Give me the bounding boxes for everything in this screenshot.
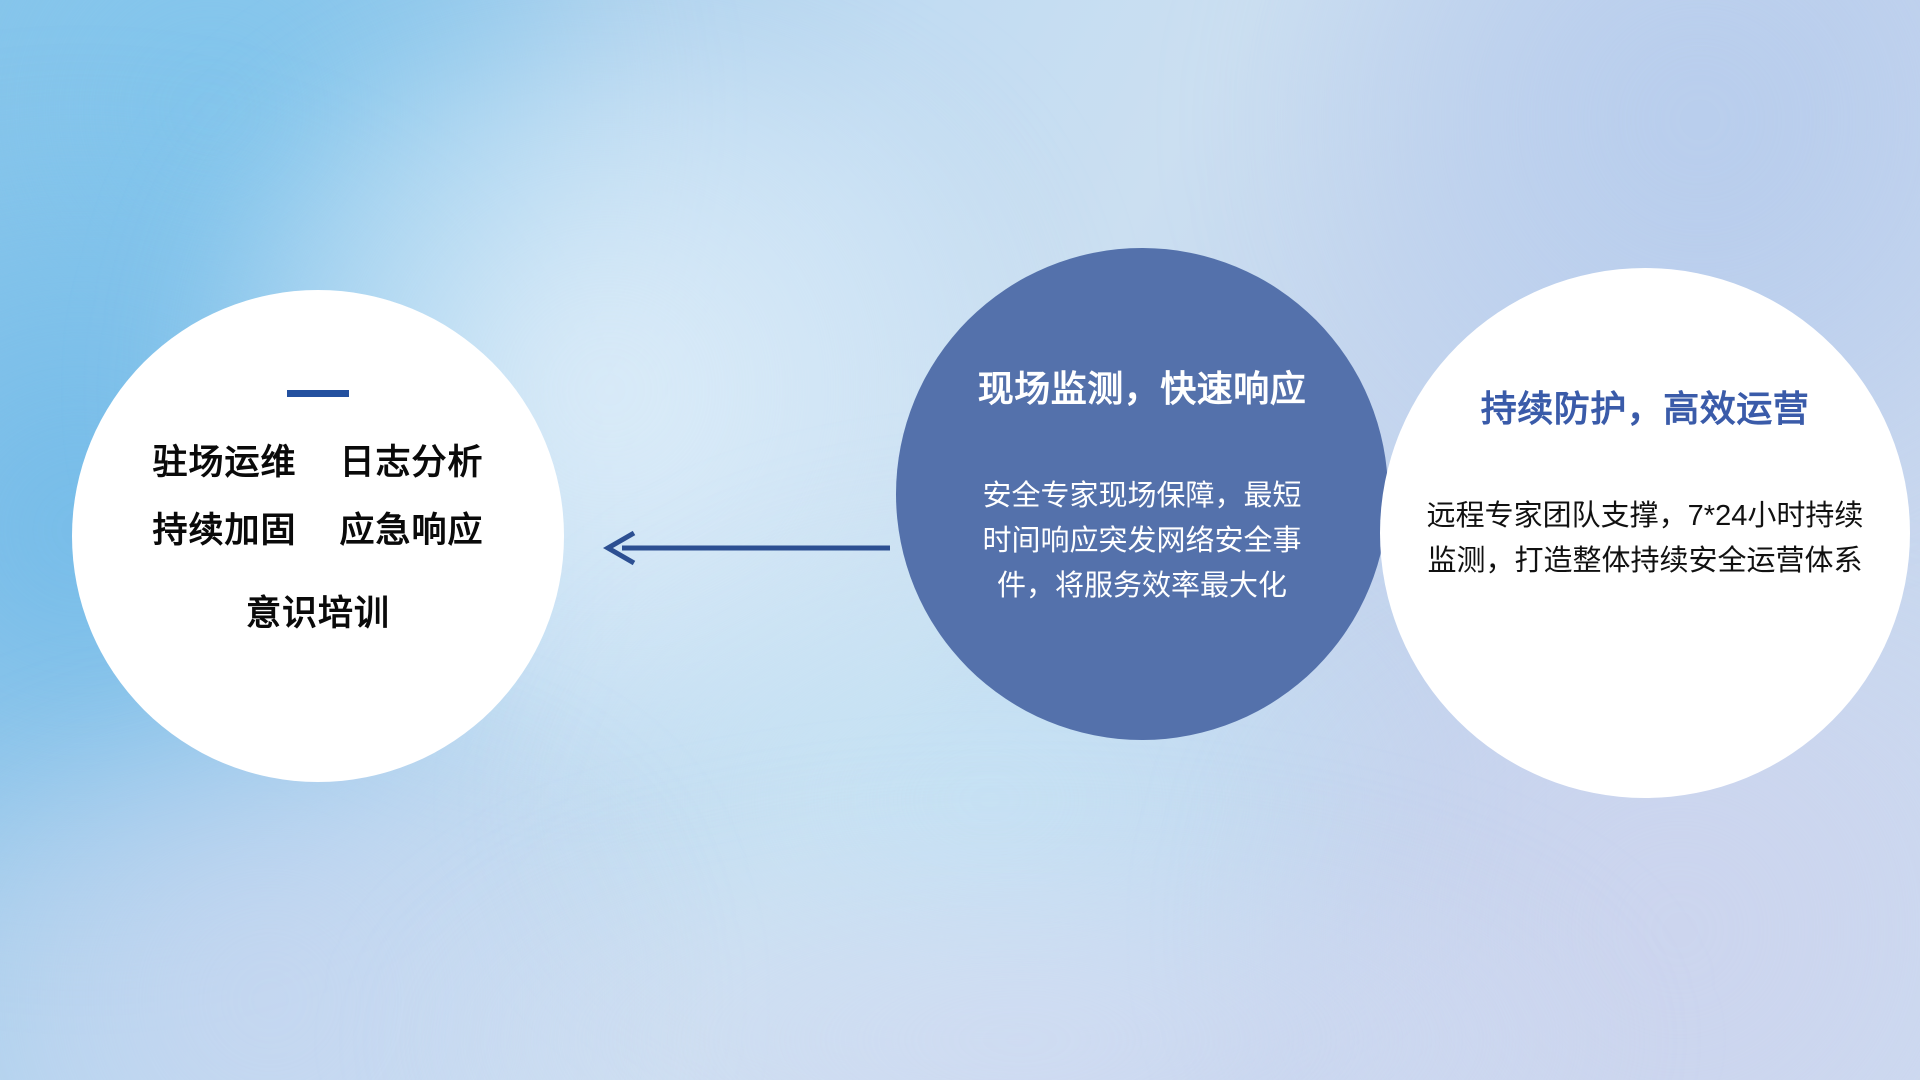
middle-card-title: 现场监测，快速响应 xyxy=(978,360,1307,412)
left-card-line-3: 意识培训 xyxy=(246,594,390,634)
right-card: 持续防护，高效运营 远程专家团队支撑，7*24小时持续监测，打造整体持续安全运营… xyxy=(1380,268,1910,798)
left-card-line-2: 持续加固 应急响应 xyxy=(153,511,484,551)
slide-canvas: 驻场运维 日志分析 持续加固 应急响应 意识培训 现场监测，快速响应 安全专家现… xyxy=(0,0,1920,1080)
right-card-title: 持续防护，高效运营 xyxy=(1481,380,1810,432)
left-card-line-1: 驻场运维 日志分析 xyxy=(153,443,484,483)
middle-card-body: 安全专家现场保障，最短时间响应突发网络安全事件，将服务效率最大化 xyxy=(978,474,1306,609)
arrow-left-icon xyxy=(600,524,890,572)
right-card-body: 远程专家团队支撑，7*24小时持续监测，打造整体持续安全运营体系 xyxy=(1425,494,1865,584)
left-card: 驻场运维 日志分析 持续加固 应急响应 意识培训 xyxy=(72,290,564,782)
middle-card: 现场监测，快速响应 安全专家现场保障，最短时间响应突发网络安全事件，将服务效率最… xyxy=(896,248,1388,740)
connector-arrow xyxy=(600,524,890,572)
left-card-divider xyxy=(287,390,349,397)
